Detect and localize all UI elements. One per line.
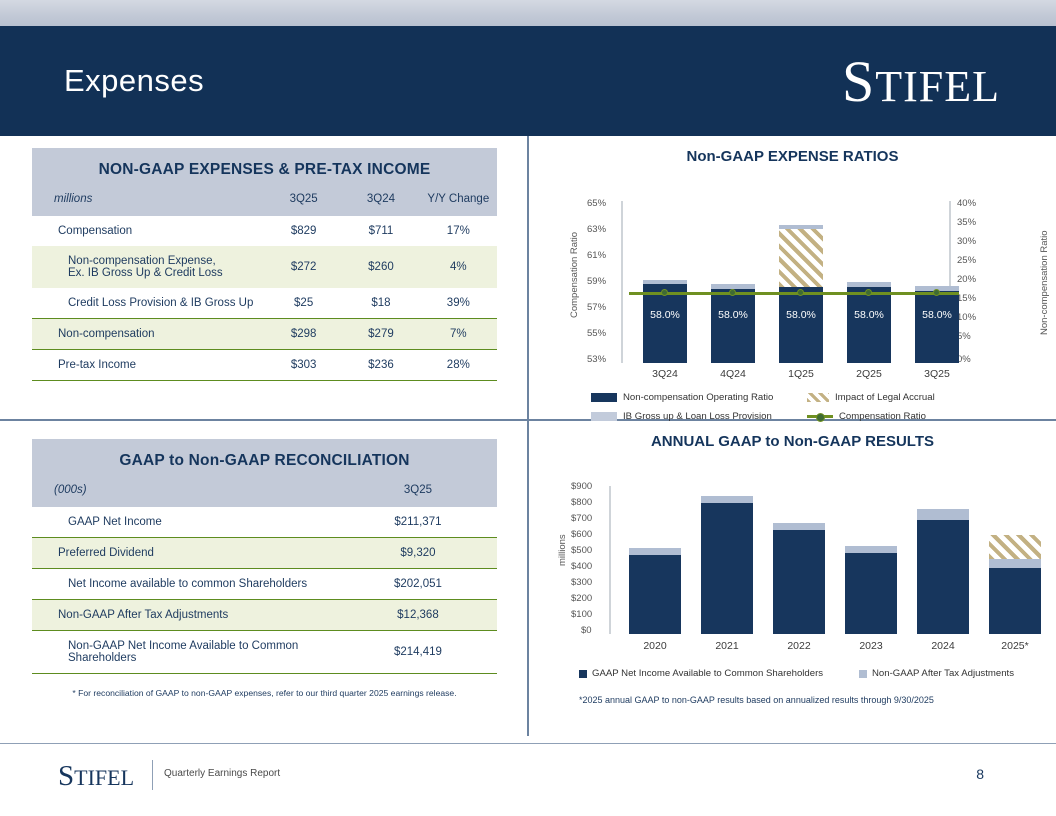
legend-item-noncomp-operating: Non-compensation Operating Ratio bbox=[591, 392, 773, 403]
row-label: Non-compensation bbox=[32, 319, 265, 350]
y-tick: $600 bbox=[571, 529, 592, 540]
x-tick-label: 3Q24 bbox=[643, 368, 687, 380]
x-tick-label: 2025* bbox=[989, 640, 1041, 652]
legend-swatch-line-icon bbox=[807, 412, 833, 421]
compensation-ratio-line bbox=[629, 292, 959, 295]
footer-stifel-logo: STIFEL bbox=[58, 760, 134, 793]
y-tick: $0 bbox=[581, 625, 592, 636]
row-label: Net Income available to common Sharehold… bbox=[32, 569, 339, 600]
bar-data-label: 58.0% bbox=[711, 309, 755, 321]
legend-swatch-gray-icon bbox=[591, 412, 617, 421]
line-marker bbox=[797, 289, 804, 296]
line-marker bbox=[933, 289, 940, 296]
y-tick-left: 65% bbox=[587, 198, 606, 209]
bar-data-label: 58.0% bbox=[779, 309, 823, 321]
cell-yy: 39% bbox=[420, 288, 497, 319]
stifel-logo: STIFEL bbox=[842, 48, 1000, 115]
col-3q25: 3Q25 bbox=[265, 179, 342, 216]
bar-segment-legal-accrual bbox=[989, 535, 1041, 559]
row-label-line2: Shareholders bbox=[68, 652, 136, 664]
legend-label: Non-GAAP After Tax Adjustments bbox=[872, 668, 1014, 679]
row-value: $12,368 bbox=[339, 600, 497, 631]
legend-item-legal-accrual: Impact of Legal Accrual bbox=[807, 392, 935, 403]
table-row: Non-GAAP Net Income Available to Common … bbox=[32, 631, 497, 674]
bar-1q25: 58.0% bbox=[779, 165, 823, 363]
bar-segment-gray bbox=[989, 559, 1041, 568]
col-millions: millions bbox=[32, 179, 265, 216]
row-value: $214,419 bbox=[339, 631, 497, 674]
x-tick-label: 2024 bbox=[917, 640, 969, 652]
row-label: Credit Loss Provision & IB Gross Up bbox=[32, 288, 265, 319]
bar-segment-gray bbox=[917, 509, 969, 520]
line-marker bbox=[865, 289, 872, 296]
reconciliation-table-panel: GAAP to Non-GAAP RECONCILIATION (000s) 3… bbox=[0, 421, 527, 741]
legend-swatch-hatch-icon bbox=[807, 393, 829, 402]
expense-ratios-chart-panel: Non-GAAP EXPENSE RATIOS Compensation Rat… bbox=[529, 136, 1056, 419]
row-label: Non-compensation Expense, Ex. IB Gross U… bbox=[32, 246, 265, 288]
col-000s: (000s) bbox=[32, 470, 339, 507]
recon-footnote: * For reconciliation of GAAP to non-GAAP… bbox=[32, 688, 497, 698]
bar-data-label: 58.0% bbox=[915, 309, 959, 321]
bar-segment-navy bbox=[643, 284, 687, 363]
footer-text: Quarterly Earnings Report bbox=[164, 768, 280, 779]
expenses-table-title: NON-GAAP EXPENSES & PRE-TAX INCOME bbox=[32, 161, 497, 179]
bar-2025 bbox=[989, 450, 1041, 634]
row-value: $211,371 bbox=[339, 507, 497, 538]
col-3q24: 3Q24 bbox=[342, 179, 419, 216]
bar-data-label: 58.0% bbox=[847, 309, 891, 321]
x-tick-label: 2020 bbox=[629, 640, 681, 652]
page-number: 8 bbox=[976, 766, 984, 782]
x-tick-label: 3Q25 bbox=[915, 368, 959, 380]
y-tick-right: 25% bbox=[957, 255, 976, 266]
row-label: Non-GAAP Net Income Available to Common … bbox=[32, 631, 339, 674]
bar-segment-navy bbox=[629, 555, 681, 634]
y-tick: $100 bbox=[571, 609, 592, 620]
y-axis-line bbox=[609, 486, 611, 634]
bar-3q25: 58.0% bbox=[915, 165, 959, 363]
bar-segment-legal-accrual bbox=[779, 229, 823, 286]
y-tick-right: 30% bbox=[957, 236, 976, 247]
table-row: Preferred Dividend $9,320 bbox=[32, 538, 497, 569]
y-axis-label-left: Compensation Ratio bbox=[569, 215, 580, 335]
bar-segment-gray bbox=[701, 496, 753, 503]
cell-3q24: $279 bbox=[342, 319, 419, 350]
cell-yy: 17% bbox=[420, 216, 497, 246]
legend-label: Non-compensation Operating Ratio bbox=[623, 392, 773, 403]
bar-2023 bbox=[845, 450, 897, 634]
annual-results-plot: millions $900 $800 $700 $600 $500 $400 $… bbox=[529, 450, 1056, 720]
x-tick-label: 2022 bbox=[773, 640, 825, 652]
y-tick: $900 bbox=[571, 481, 592, 492]
row-label-line2: Ex. IB Gross Up & Credit Loss bbox=[68, 267, 223, 279]
content-grid: NON-GAAP EXPENSES & PRE-TAX INCOME milli… bbox=[0, 136, 1056, 741]
cell-3q25: $298 bbox=[265, 319, 342, 350]
cell-3q25: $303 bbox=[265, 350, 342, 381]
y-tick-left: 63% bbox=[587, 224, 606, 235]
expenses-table-body: Compensation $829 $711 17% Non-compensat… bbox=[32, 216, 497, 381]
y-tick-right: 15% bbox=[957, 293, 976, 304]
x-tick-label: 2Q25 bbox=[847, 368, 891, 380]
top-strip bbox=[0, 0, 1056, 26]
left-axis-line bbox=[621, 201, 623, 363]
x-tick-label: 4Q24 bbox=[711, 368, 755, 380]
table-row: Non-compensation Expense, Ex. IB Gross U… bbox=[32, 246, 497, 288]
bar-segment-navy bbox=[845, 553, 897, 634]
row-label-line1: Non-GAAP Net Income Available to Common bbox=[68, 640, 298, 652]
row-value: $202,051 bbox=[339, 569, 497, 600]
page-title: Expenses bbox=[64, 63, 204, 99]
bar-segment-gray bbox=[629, 548, 681, 555]
table-header-row: (000s) 3Q25 bbox=[32, 470, 497, 507]
bar-segment-navy bbox=[989, 568, 1041, 634]
bar-segment-navy bbox=[847, 287, 891, 363]
y-axis-label-right: Non-compensation Ratio bbox=[1039, 213, 1050, 353]
annual-results-chart-panel: ANNUAL GAAP to Non-GAAP RESULTS millions… bbox=[529, 421, 1056, 741]
x-tick-label: 2023 bbox=[845, 640, 897, 652]
y-tick-right: 40% bbox=[957, 198, 976, 209]
cell-yy: 7% bbox=[420, 319, 497, 350]
bar-2020 bbox=[629, 450, 681, 634]
row-label: Pre-tax Income bbox=[32, 350, 265, 381]
row-value: $9,320 bbox=[339, 538, 497, 569]
legend-swatch-navy-icon bbox=[591, 393, 617, 402]
bar-segment-navy bbox=[915, 291, 959, 363]
bar-segment-navy bbox=[701, 503, 753, 634]
bar-2q25: 58.0% bbox=[847, 165, 891, 363]
cell-3q25: $25 bbox=[265, 288, 342, 319]
y-tick-right: 5% bbox=[957, 331, 971, 342]
table-row: Non-GAAP After Tax Adjustments $12,368 bbox=[32, 600, 497, 631]
bar-segment-gray bbox=[847, 282, 891, 287]
cell-yy: 28% bbox=[420, 350, 497, 381]
line-marker bbox=[729, 289, 736, 296]
y-tick: $400 bbox=[571, 561, 592, 572]
col-3q25: 3Q25 bbox=[339, 470, 497, 507]
table-row: Non-compensation $298 $279 7% bbox=[32, 319, 497, 350]
slide-footer: STIFEL Quarterly Earnings Report 8 bbox=[0, 752, 1056, 816]
chart-title-annual-results: ANNUAL GAAP to Non-GAAP RESULTS bbox=[529, 433, 1056, 450]
y-tick-left: 57% bbox=[587, 302, 606, 313]
bar-data-label: 58.0% bbox=[643, 309, 687, 321]
bar-2024 bbox=[917, 450, 969, 634]
row-label: Preferred Dividend bbox=[32, 538, 339, 569]
y-tick-right: 10% bbox=[957, 312, 976, 323]
cell-3q25: $829 bbox=[265, 216, 342, 246]
legend-item-gaap-net-income: GAAP Net Income Available to Common Shar… bbox=[579, 668, 823, 679]
bar-segment-navy bbox=[917, 520, 969, 634]
expenses-table-header: NON-GAAP EXPENSES & PRE-TAX INCOME milli… bbox=[32, 148, 497, 216]
bar-2021 bbox=[701, 450, 753, 634]
y-axis-label: millions bbox=[557, 520, 568, 580]
bar-segment-gray bbox=[779, 225, 823, 229]
row-label-line1: Non-compensation Expense, bbox=[68, 255, 216, 267]
y-tick-left: 55% bbox=[587, 328, 606, 339]
expense-ratios-plot: Compensation Ratio Non-compensation Rati… bbox=[529, 165, 1056, 420]
y-tick: $500 bbox=[571, 545, 592, 556]
x-tick-label: 2021 bbox=[701, 640, 753, 652]
bar-segment-gray bbox=[773, 523, 825, 531]
legend-label: Impact of Legal Accrual bbox=[835, 392, 935, 403]
table-row: Compensation $829 $711 17% bbox=[32, 216, 497, 246]
table-row: Net Income available to common Sharehold… bbox=[32, 569, 497, 600]
row-label: Compensation bbox=[32, 216, 265, 246]
legend-swatch-navy-icon bbox=[579, 670, 587, 678]
bar-segment-gray bbox=[643, 280, 687, 285]
legend-swatch-gray-icon bbox=[859, 670, 867, 678]
legend-label: GAAP Net Income Available to Common Shar… bbox=[592, 668, 823, 679]
table-row: Credit Loss Provision & IB Gross Up $25 … bbox=[32, 288, 497, 319]
y-tick: $300 bbox=[571, 577, 592, 588]
expenses-table-panel: NON-GAAP EXPENSES & PRE-TAX INCOME milli… bbox=[0, 136, 527, 419]
table-row: Pre-tax Income $303 $236 28% bbox=[32, 350, 497, 381]
col-yychange: Y/Y Change bbox=[420, 179, 497, 216]
annual-chart-footnote: *2025 annual GAAP to non-GAAP results ba… bbox=[579, 695, 934, 705]
footer-separator bbox=[152, 760, 153, 790]
bar-3q24: 58.0% bbox=[643, 165, 687, 363]
cell-yy: 4% bbox=[420, 246, 497, 288]
chart-title-expense-ratios: Non-GAAP EXPENSE RATIOS bbox=[529, 148, 1056, 165]
row-label: GAAP Net Income bbox=[32, 507, 339, 538]
cell-3q24: $236 bbox=[342, 350, 419, 381]
y-tick-left: 59% bbox=[587, 276, 606, 287]
recon-table-body: GAAP Net Income $211,371 Preferred Divid… bbox=[32, 507, 497, 674]
legend-item-after-tax-adjustments: Non-GAAP After Tax Adjustments bbox=[859, 668, 1014, 679]
bar-4q24: 58.0% bbox=[711, 165, 755, 363]
y-tick-left: 61% bbox=[587, 250, 606, 261]
y-tick-right: 35% bbox=[957, 217, 976, 228]
bar-segment-navy bbox=[779, 287, 823, 364]
bar-2022 bbox=[773, 450, 825, 634]
y-tick-left: 53% bbox=[587, 354, 606, 365]
y-tick: $700 bbox=[571, 513, 592, 524]
y-tick: $200 bbox=[571, 593, 592, 604]
cell-3q25: $272 bbox=[265, 246, 342, 288]
x-tick-label: 1Q25 bbox=[779, 368, 823, 380]
bar-segment-navy bbox=[711, 289, 755, 363]
cell-3q24: $260 bbox=[342, 246, 419, 288]
line-marker bbox=[661, 289, 668, 296]
cell-3q24: $18 bbox=[342, 288, 419, 319]
footer-divider bbox=[0, 743, 1056, 744]
table-row: GAAP Net Income $211,371 bbox=[32, 507, 497, 538]
bar-segment-navy bbox=[773, 530, 825, 634]
recon-table-header: GAAP to Non-GAAP RECONCILIATION (000s) 3… bbox=[32, 439, 497, 507]
y-tick-right: 20% bbox=[957, 274, 976, 285]
table-header-row: millions 3Q25 3Q24 Y/Y Change bbox=[32, 179, 497, 216]
row-label: Non-GAAP After Tax Adjustments bbox=[32, 600, 339, 631]
y-tick-right: 0% bbox=[957, 354, 971, 365]
slide-header: Expenses STIFEL bbox=[0, 26, 1056, 136]
cell-3q24: $711 bbox=[342, 216, 419, 246]
recon-table-title: GAAP to Non-GAAP RECONCILIATION bbox=[32, 452, 497, 470]
y-tick: $800 bbox=[571, 497, 592, 508]
bar-segment-gray bbox=[845, 546, 897, 554]
